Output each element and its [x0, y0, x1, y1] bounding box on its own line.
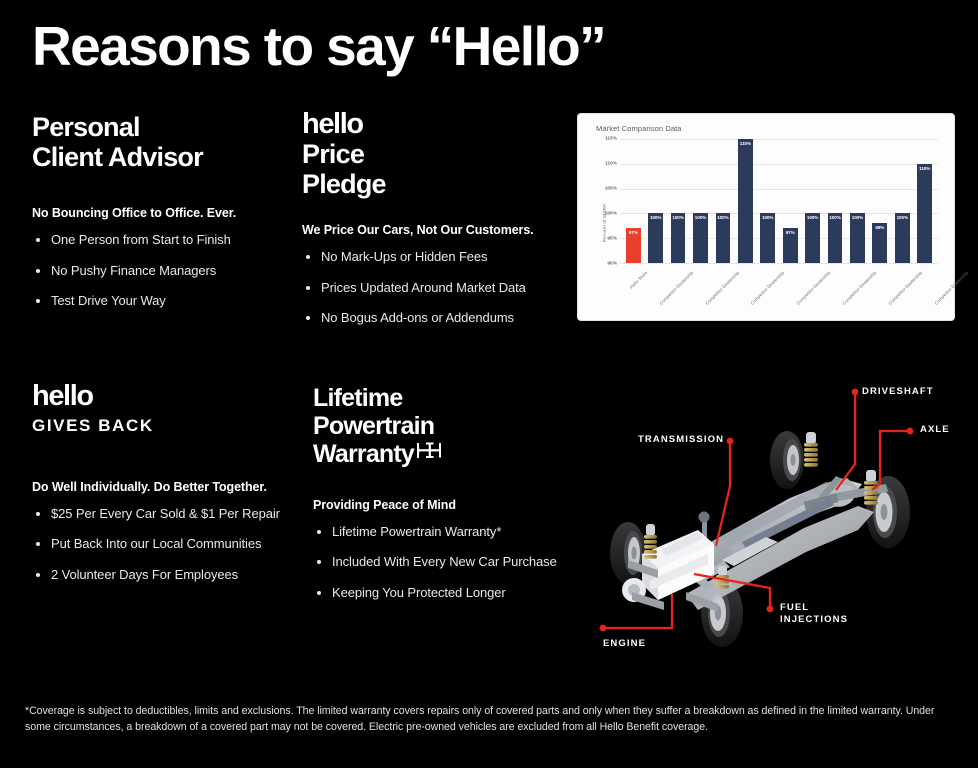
section-hello-gives-back: hello GIVES BACK Do Well Individually. D…: [32, 382, 287, 597]
callout-label-axle: AXLE: [920, 424, 950, 436]
section-lifetime-powertrain-warranty: Lifetime Powertrain Warranty Providing P…: [313, 384, 583, 615]
hello-logo: hello: [32, 382, 287, 411]
list-item: $25 Per Every Car Sold & $1 Per Repair: [32, 506, 287, 522]
callout-label-engine: ENGINE: [603, 638, 646, 650]
chart-bar-value: 115%: [738, 141, 753, 146]
chart-y-tick: 105%: [605, 186, 617, 191]
list-item: Lifetime Powertrain Warranty*: [313, 524, 583, 540]
list-item: Keeping You Protected Longer: [313, 585, 583, 601]
footnote-disclaimer: *Coverage is subject to deductibles, lim…: [25, 703, 950, 735]
chart-bars: 97%100%100%100%100%115%100%97%100%100%10…: [620, 139, 938, 263]
chart-y-tick: 115%: [605, 137, 617, 142]
chart-y-tick: 90%: [607, 262, 617, 267]
chart-bar: 100%: [648, 213, 663, 263]
page-title: Reasons to say “Hello”: [32, 18, 605, 76]
chassis-diagram: DRIVESHAFT AXLE TRANSMISSION FUEL INJECT…: [590, 378, 978, 660]
chart-bar: 100%: [805, 213, 820, 263]
chart-bar: 100%: [671, 213, 686, 263]
section-bullet-list: One Person from Start to Finish No Pushy…: [32, 232, 282, 309]
chart-bar-value: 100%: [805, 215, 820, 220]
section-tagline: No Bouncing Office to Office. Ever.: [32, 206, 282, 220]
chart-bar-value: 98%: [872, 225, 887, 230]
chart-bar-value: 100%: [760, 215, 775, 220]
chart-bar: 100%: [760, 213, 775, 263]
chart-bar-value: 110%: [917, 166, 932, 171]
chart-bar: 100%: [895, 213, 910, 263]
section-hello-price-pledge: hello Price Pledge We Price Our Cars, No…: [302, 110, 567, 340]
chart-bar-value: 100%: [671, 215, 686, 220]
section-bullet-list: $25 Per Every Car Sold & $1 Per Repair P…: [32, 506, 287, 583]
section-heading: Price Pledge: [302, 139, 567, 199]
chart-bar: 100%: [693, 213, 708, 263]
chart-bar-value: 97%: [783, 230, 798, 235]
section-heading-line-3: Warranty: [313, 440, 414, 468]
section-heading-line-2: Powertrain: [313, 412, 583, 440]
section-heading: Personal Client Advisor: [32, 112, 282, 172]
chart-bar-value: 100%: [850, 215, 865, 220]
section-bullet-list: Lifetime Powertrain Warranty* Included W…: [313, 524, 583, 601]
market-comparison-chart: Market Comparison Data Percent of MSRP 9…: [578, 114, 954, 320]
list-item: One Person from Start to Finish: [32, 232, 282, 248]
section-tagline: Do Well Individually. Do Better Together…: [32, 480, 287, 494]
section-bullet-list: No Mark-Ups or Hidden Fees Prices Update…: [302, 249, 567, 326]
chart-bar: 100%: [716, 213, 731, 263]
chart-bar: 97%: [783, 228, 798, 263]
chart-bar-value: 100%: [828, 215, 843, 220]
callout-label-driveshaft: DRIVESHAFT: [862, 386, 934, 398]
chart-y-tick: 95%: [607, 236, 617, 241]
chart-bar: 115%: [738, 139, 753, 263]
chart-x-axis-labels: Hello StoreCompetitor DealershipCompetit…: [620, 267, 938, 311]
chart-y-tick: 100%: [605, 211, 617, 216]
chart-title: Market Comparison Data: [596, 124, 944, 133]
hello-logo: hello: [302, 110, 567, 139]
chart-bar-value: 100%: [693, 215, 708, 220]
list-item: 2 Volunteer Days For Employees: [32, 567, 287, 583]
hello-logo-subtitle: GIVES BACK: [32, 416, 287, 436]
chart-bar: 110%: [917, 164, 932, 263]
list-item: Put Back Into our Local Communities: [32, 536, 287, 552]
spring-rear-left: [804, 432, 818, 467]
list-item: Test Drive Your Way: [32, 293, 282, 309]
chart-bar: 98%: [872, 223, 887, 263]
list-item: Prices Updated Around Market Data: [302, 280, 567, 296]
section-tagline: Providing Peace of Mind: [313, 498, 583, 512]
chart-plot-area: 90%95%100%105%110%115% 97%100%100%100%10…: [620, 139, 938, 263]
chart-bar-value: 97%: [626, 230, 641, 235]
callout-label-transmission: TRANSMISSION: [638, 434, 724, 446]
section-heading-line-1: Lifetime: [313, 384, 583, 412]
chart-y-axis-label: Percent of MSRP: [602, 204, 607, 243]
chart-bar: 97%: [626, 228, 641, 263]
callout-label-fuel-injections: FUEL INJECTIONS: [780, 602, 848, 626]
list-item: No Mark-Ups or Hidden Fees: [302, 249, 567, 265]
chart-bar-value: 100%: [648, 215, 663, 220]
chart-bar: 100%: [828, 213, 843, 263]
spring-front-left: [644, 524, 657, 559]
chart-gridline: 90%: [620, 263, 938, 264]
section-tagline: We Price Our Cars, Not Our Customers.: [302, 223, 567, 237]
chart-bar: 100%: [850, 213, 865, 263]
chassis-axle-icon: [417, 442, 443, 464]
list-item: No Pushy Finance Managers: [32, 263, 282, 279]
chart-bar-value: 100%: [895, 215, 910, 220]
chart-y-tick: 110%: [605, 161, 617, 166]
list-item: Included With Every New Car Purchase: [313, 554, 583, 570]
list-item: No Bogus Add-ons or Addendums: [302, 310, 567, 326]
section-personal-client-advisor: Personal Client Advisor No Bouncing Offi…: [32, 112, 282, 323]
chart-x-tick: Competitor Dealership: [933, 270, 978, 331]
slide-root: Reasons to say “Hello” Personal Client A…: [0, 0, 978, 768]
chart-bar-value: 100%: [716, 215, 731, 220]
